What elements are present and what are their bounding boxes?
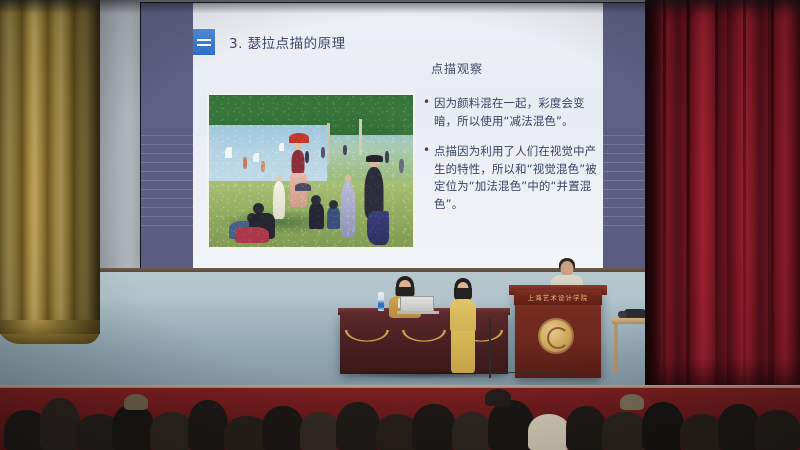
slide-bullet-1: 因为颜料混在一起，彩度会变暗，所以使用“减法混色”。: [423, 95, 607, 130]
slide-left-sidebar: [141, 3, 193, 269]
slide-content-area: 3. 瑟拉点描的原理 点描观察 因为颜料混在一起，彩度会变暗，所以使用“减法混色…: [193, 3, 603, 269]
audience-member: [262, 406, 304, 450]
sidebar-stripes: [141, 135, 193, 231]
water-bottle: [378, 292, 384, 311]
slide-bullet-marker-icon: [193, 29, 215, 55]
presentation-slide: 3. 瑟拉点描的原理 点描观察 因为颜料混在一起，彩度会变暗，所以使用“减法混色…: [141, 3, 647, 269]
slide-subheading: 点描观察: [431, 60, 483, 77]
microphone-stand: [489, 318, 491, 378]
auditorium-photo: 3. 瑟拉点描的原理 点描观察 因为颜料混在一起，彩度会变暗，所以使用“减法混色…: [0, 0, 800, 450]
audience-member: [642, 402, 684, 450]
audience: [0, 396, 800, 450]
audience-member: [452, 412, 492, 450]
side-table-leg: [614, 324, 618, 374]
audience-cap: [124, 394, 148, 410]
sidebar-stripes: [603, 135, 647, 231]
audience-member: [112, 404, 154, 450]
panelist-standing-woman: [446, 278, 480, 374]
audience-member: [754, 410, 800, 450]
audience-member: [528, 414, 570, 450]
gold-curtain-shading: [0, 0, 100, 334]
audience-member: [336, 402, 380, 450]
skirt: [451, 331, 475, 373]
audience-member: [40, 398, 80, 450]
slide-title: 3. 瑟拉点描的原理: [229, 32, 346, 52]
podium-institution-sign: 上海艺术设计学院: [514, 292, 602, 305]
laptop-computer: [400, 296, 434, 312]
audience-member: [412, 404, 456, 450]
slide-right-sidebar: [603, 3, 647, 269]
audience-member: [188, 400, 228, 450]
audience-member: [300, 412, 340, 450]
audience-cap: [485, 389, 511, 406]
floor-cable: [470, 372, 590, 378]
slide-bullet-2: 点描因为利用了人们在视觉中产生的特性，所以和“视觉混色”被定位为“加法混色”中的…: [423, 143, 607, 213]
painting-pointillist-texture: [209, 95, 413, 247]
table-gold-trim: [340, 330, 508, 360]
top-shadow: [0, 0, 800, 14]
curtain-edge-shadow: [645, 0, 667, 400]
slide-bullet-list: 因为颜料混在一起，彩度会变暗，所以使用“减法混色”。 点描因为利用了人们在视觉中…: [423, 95, 607, 226]
red-curtain: [645, 0, 800, 398]
seurat-painting-image: [207, 93, 415, 249]
podium-emblem-icon: [538, 318, 574, 354]
audience-cap: [620, 394, 644, 410]
audience-member: [566, 406, 606, 450]
